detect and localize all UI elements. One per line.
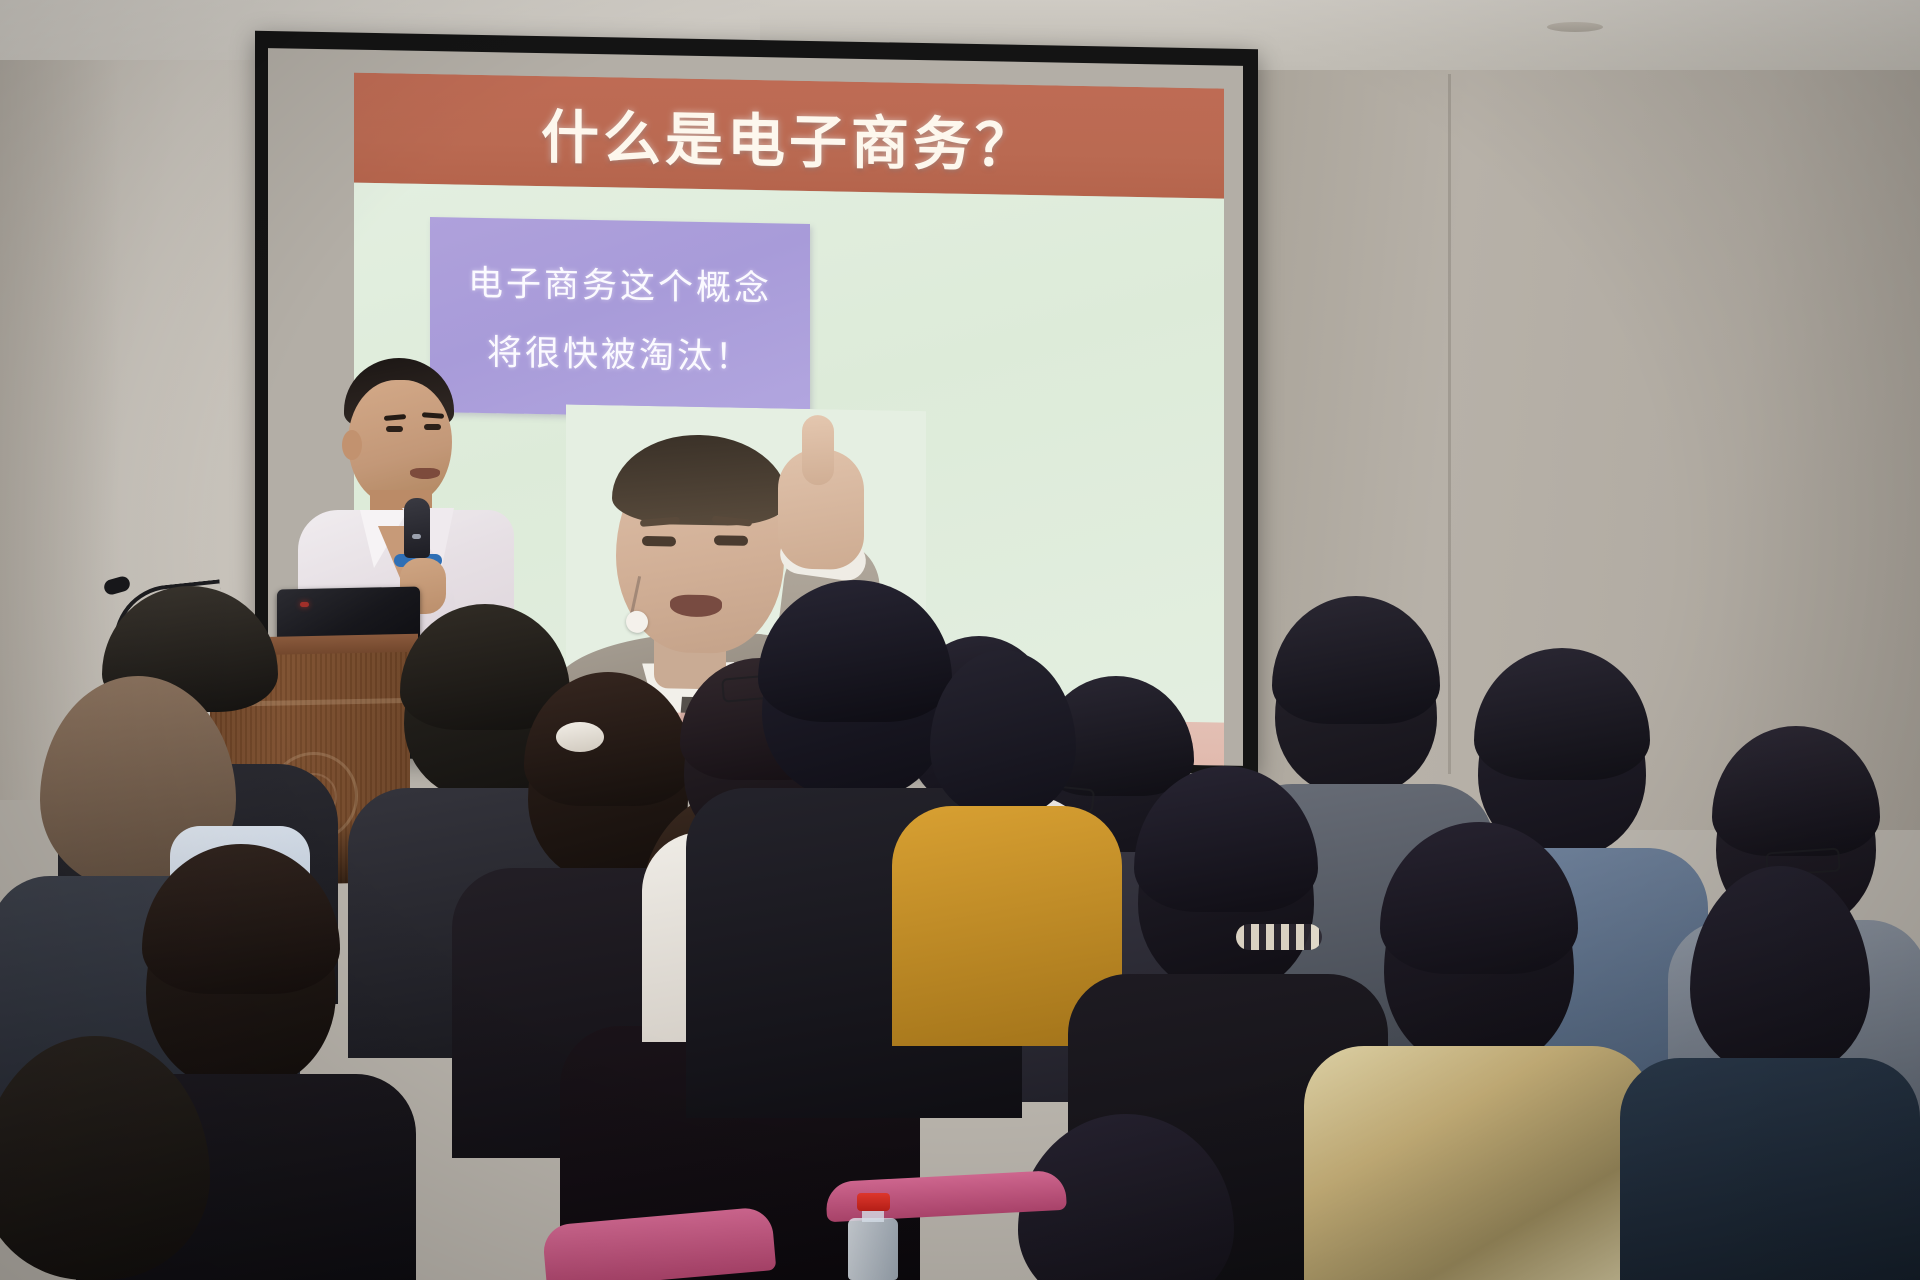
water-bottle-cap [857,1193,890,1211]
hair-scrunchie [556,722,604,752]
lecture-hall-photo: 什么是电子商务？ 电子商务这个概念 将很快被淘汰！ [0,0,1920,1280]
water-bottle-body [848,1218,898,1280]
beaded-hair-accessory [1236,924,1322,950]
audience [0,0,1920,1280]
